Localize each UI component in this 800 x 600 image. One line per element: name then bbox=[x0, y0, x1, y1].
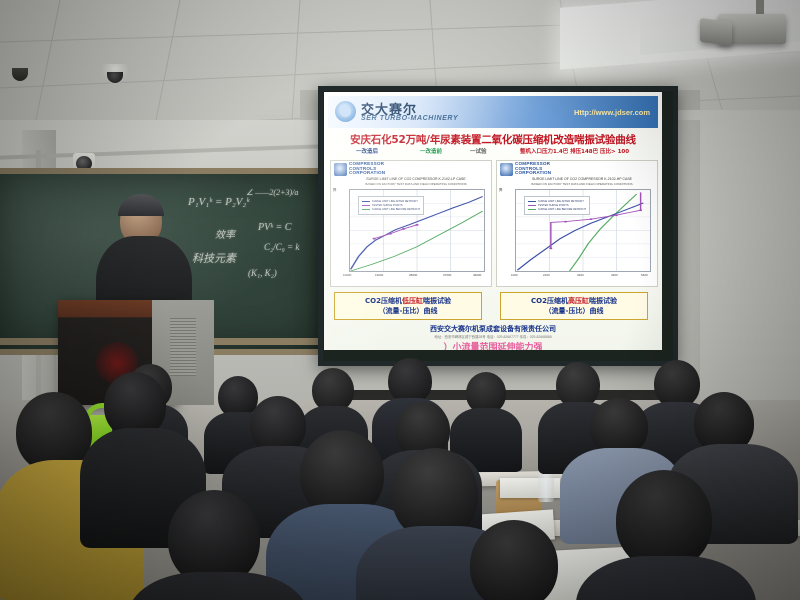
chart-subtitle-lp: BASED ON FACTORY TEST DATA AND FIELD OPE… bbox=[345, 182, 487, 186]
avatar bbox=[654, 360, 700, 408]
legend-note-test: 一试验 bbox=[470, 147, 487, 155]
series-tested-points-lp bbox=[374, 225, 417, 239]
legend-item: SURGE LIMIT LINE BEFORE RETROFIT bbox=[362, 208, 420, 211]
avatar bbox=[616, 470, 712, 570]
projector-lens-housing bbox=[700, 18, 732, 46]
tested-point-markers-hp bbox=[549, 209, 642, 249]
callout-line-1: CO2压缩机低压缸喘振试验 bbox=[335, 296, 481, 306]
vendor-name: COMPRESSOR CONTROLS CORPORATION bbox=[515, 162, 551, 176]
legend-swatch-icon bbox=[362, 201, 370, 203]
legend-swatch-icon bbox=[528, 209, 536, 211]
slide-header: 交大赛尔 SER TURBO-MACHINERY Http://www.jdse… bbox=[328, 96, 658, 128]
plot-area-lp: SURGE LIMIT LINE AFTER RETROFIT TESTED S… bbox=[349, 189, 485, 272]
blackboard-note: P₁V₁ᵏ = P₂V₂ᵏ bbox=[188, 196, 249, 208]
plot-area-hp: SURGE LIMIT LINE AFTER RETROFIT TESTED S… bbox=[515, 189, 651, 272]
y-axis-unit-lp: 弊 bbox=[333, 187, 336, 192]
x-axis-ticks-hp: 1000 2100 3200 4300 5400 bbox=[515, 273, 651, 281]
chart-legend-lp: SURGE LIMIT LINE AFTER RETROFIT TESTED S… bbox=[358, 196, 424, 215]
blackboard-note: 效率 bbox=[215, 226, 235, 241]
x-axis-ticks-lp: 10000 19000 28000 37000 46000 bbox=[349, 273, 485, 281]
callout-line-2: （流量-压比）曲线 bbox=[335, 306, 481, 316]
blackboard-note: 科技元素 bbox=[192, 250, 236, 266]
y-axis-unit-hp: 弊 bbox=[499, 187, 502, 192]
presentation-slide: 交大赛尔 SER TURBO-MACHINERY Http://www.jdse… bbox=[324, 92, 662, 350]
operating-conditions-note: 整机入口压力1.4巴 排压148巴 压比> 100 bbox=[520, 147, 629, 155]
compressor-controls-logo bbox=[334, 163, 347, 176]
screenshot-root: P₁V₁ᵏ = P₂V₂ᵏ PVᵏ = C 效率 科技元素 C₂/C₀ = k … bbox=[0, 0, 800, 600]
slide-subtitle-row: 一改造后 一改造前 一试验 整机入口压力1.4巴 排压148巴 压比> 100 bbox=[324, 147, 662, 157]
turbine-impeller-icon bbox=[335, 101, 356, 122]
legend-item: TESTED SURGE POINTS bbox=[528, 204, 586, 207]
legend-swatch-icon bbox=[528, 205, 536, 207]
callout-line-1: CO2压缩机高压缸喘振试验 bbox=[501, 296, 647, 306]
callout-line-2: （流量-压比）曲线 bbox=[501, 306, 647, 316]
chart-legend-hp: SURGE LIMIT LINE AFTER RETROFIT TESTED S… bbox=[524, 196, 590, 215]
legend-swatch-icon bbox=[362, 209, 370, 211]
brand-url: Http://www.jdser.com bbox=[574, 108, 650, 117]
slide-company-name: 西安交大赛尔机泵成套设备有限责任公司 bbox=[324, 324, 662, 334]
legend-note-before: 一改造前 bbox=[420, 147, 442, 155]
vendor-name: COMPRESSOR CONTROLS CORPORATION bbox=[349, 162, 385, 176]
legend-item: SURGE LIMIT LINE AFTER RETROFIT bbox=[528, 200, 586, 203]
chart-panel-hp: COMPRESSOR CONTROLS CORPORATION SURGE LI… bbox=[496, 160, 658, 287]
blackboard-note: C₂/C₀ = k bbox=[264, 242, 299, 252]
legend-item: SURGE LIMIT LINE AFTER RETROFIT bbox=[362, 200, 420, 203]
legend-item: TESTED SURGE POINTS bbox=[362, 204, 420, 207]
callout-hp: CO2压缩机高压缸喘振试验 （流量-压比）曲线 bbox=[500, 292, 648, 320]
blackboard-note: PVᵏ = C bbox=[258, 222, 291, 233]
compressor-controls-logo bbox=[500, 163, 513, 176]
avatar bbox=[470, 520, 558, 600]
slide-footer-note: 地址：西安市碑林区咸宁西路28号 电话：029-82667777 传真：029-… bbox=[324, 334, 662, 339]
slide-highlight-note: ）小流量范围延伸能力强 bbox=[324, 340, 662, 350]
podium-speaker-grill bbox=[170, 318, 196, 376]
chart-panel-lp: COMPRESSOR CONTROLS CORPORATION SURGE LI… bbox=[330, 160, 492, 287]
brand-name-en: SER TURBO-MACHINERY bbox=[361, 115, 458, 122]
chart-subtitle-hp: BASED ON FACTORY TEST DATA AND FIELD OPE… bbox=[511, 182, 653, 186]
legend-swatch-icon bbox=[362, 205, 370, 207]
legend-note-after: 一改造后 bbox=[356, 147, 378, 155]
slide-title: 安庆石化52万吨/年尿素装置二氧化碳压缩机改造喘振试验曲线 bbox=[324, 132, 662, 147]
blackboard-note: (K₁, K₂) bbox=[248, 268, 277, 278]
callout-lp: CO2压缩机低压缸喘振试验 （流量-压比）曲线 bbox=[334, 292, 482, 320]
legend-swatch-icon bbox=[528, 201, 536, 203]
legend-item: SURGE LIMIT LINE BEFORE RETROFIT bbox=[528, 208, 586, 211]
blackboard-note: ∠ ——2(2+3)/a bbox=[246, 188, 298, 197]
